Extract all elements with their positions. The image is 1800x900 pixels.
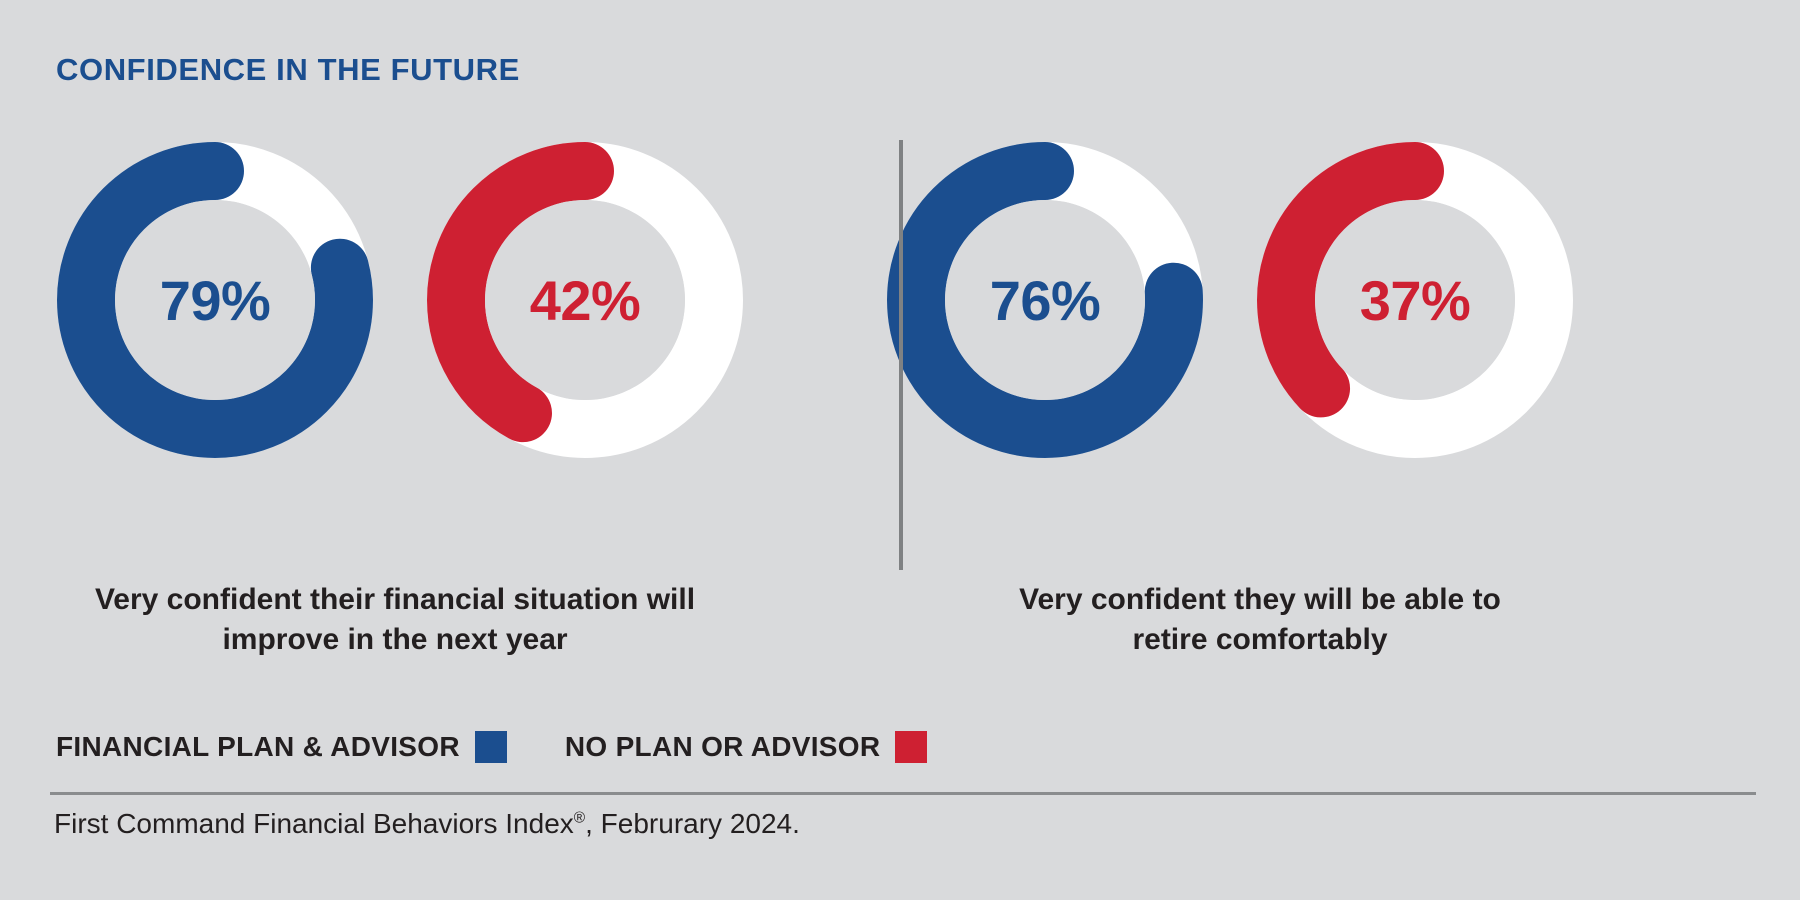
legend-item-financial-plan-advisor: FINANCIAL PLAN & ADVISOR [56, 731, 507, 763]
donut-value-79: 79% [50, 135, 380, 465]
legend-item-no-plan-or-advisor: NO PLAN OR ADVISOR [565, 731, 928, 763]
donut-value-42: 42% [420, 135, 750, 465]
donut-value-76: 76% [880, 135, 1210, 465]
donut-chart-42: 42% [420, 135, 750, 465]
footer-source-note: First Command Financial Behaviors Index®… [54, 808, 800, 840]
donut-chart-37: 37% [1250, 135, 1580, 465]
caption-left-line2: improve in the next year [40, 620, 750, 660]
legend-swatch-red-icon [895, 731, 927, 763]
page-title: CONFIDENCE IN THE FUTURE [56, 52, 520, 88]
footer-source-prefix: First Command Financial Behaviors Index [54, 808, 574, 839]
legend: FINANCIAL PLAN & ADVISOR NO PLAN OR ADVI… [56, 727, 927, 767]
infographic-root: CONFIDENCE IN THE FUTURE 79% 42% [0, 0, 1800, 900]
vertical-divider [899, 140, 903, 570]
caption-left: Very confident their financial situation… [40, 580, 750, 659]
donut-group-left: 79% 42% [50, 135, 850, 475]
donut-value-37: 37% [1250, 135, 1580, 465]
registered-trademark-icon: ® [574, 810, 585, 827]
donut-chart-76: 76% [880, 135, 1210, 465]
caption-right: Very confident they will be able to reti… [900, 580, 1620, 659]
footer-source-suffix: , Februrary 2024. [585, 808, 800, 839]
donut-group-right: 76% 37% [880, 135, 1680, 475]
caption-right-line2: retire comfortably [900, 620, 1620, 660]
caption-right-line1: Very confident they will be able to [900, 580, 1620, 620]
donut-chart-79: 79% [50, 135, 380, 465]
footer-divider [50, 792, 1756, 795]
legend-label-no-plan-or-advisor: NO PLAN OR ADVISOR [565, 731, 881, 763]
caption-left-line1: Very confident their financial situation… [40, 580, 750, 620]
legend-label-financial-plan-advisor: FINANCIAL PLAN & ADVISOR [56, 731, 460, 763]
legend-swatch-blue-icon [475, 731, 507, 763]
